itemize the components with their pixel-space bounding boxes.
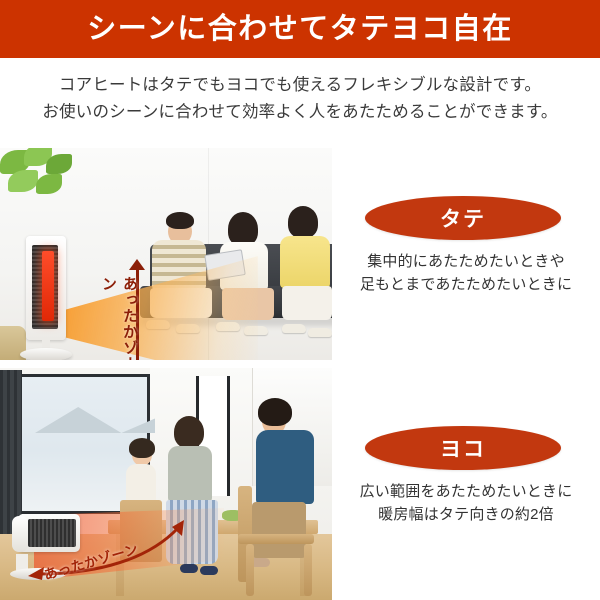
caption-horizontal-line-2: 暖房幅はタテ向きの約2倍 (332, 503, 600, 526)
intro-line-2: お使いのシーンに合わせて効率よく人をあたためることができます。 (0, 99, 600, 126)
heater-base (20, 348, 72, 360)
curtain (0, 370, 22, 538)
photo-vertical-usage: あったかゾーン (0, 148, 332, 360)
heat-zone-label-vertical: あったかゾーン (98, 276, 140, 360)
heater-unit-vertical (18, 236, 74, 360)
section-horizontal-info: ヨコ 広い範囲をあたためたいときに 暖房幅はタテ向きの約2倍 (332, 368, 600, 600)
caption-vertical: 集中的にあたためたいときや 足もとまであたためたいときに (332, 250, 600, 297)
roofline-outside (35, 407, 155, 433)
intro-line-1: コアヒートはタテでもヨコでも使えるフレキシブルな設計です。 (0, 72, 600, 99)
heating-element-glow (42, 251, 54, 321)
living-room-scene: あったかゾーン (0, 148, 332, 360)
badge-vertical-label: タテ (440, 203, 486, 233)
caption-vertical-line-1: 集中的にあたためたいときや (332, 250, 600, 273)
chair-leg (304, 544, 312, 596)
product-feature-page: シーンに合わせてタテヨコ自在 コアヒートはタテでもヨコでも使えるフレキシブルな設… (0, 0, 600, 600)
header-banner: シーンに合わせてタテヨコ自在 (0, 0, 600, 58)
badge-vertical: タテ (365, 196, 561, 240)
page-title: シーンに合わせてタテヨコ自在 (87, 15, 513, 44)
dining-room-scene: あったかゾーン (0, 368, 332, 600)
badge-horizontal-label: ヨコ (440, 433, 486, 463)
heat-zone-arrow-vertical: あったかゾーン (96, 266, 158, 360)
caption-horizontal-line-1: 広い範囲をあたためたいときに (332, 480, 600, 503)
caption-horizontal: 広い範囲をあたためたいときに 暖房幅はタテ向きの約2倍 (332, 480, 600, 527)
badge-horizontal: ヨコ (365, 426, 561, 470)
shoe (200, 566, 218, 575)
caption-vertical-line-2: 足もとまであたためたいときに (332, 273, 600, 296)
photo-horizontal-usage: あったかゾーン (0, 368, 332, 600)
plant-decoration (0, 148, 86, 214)
arrow-head-up-icon (129, 259, 145, 270)
father-trousers (252, 502, 306, 558)
intro-paragraph: コアヒートはタテでもヨコでも使えるフレキシブルな設計です。 お使いのシーンに合わ… (0, 72, 600, 125)
chair-father-seat (238, 534, 314, 544)
chair-leg (246, 544, 254, 596)
section-vertical-info: タテ 集中的にあたためたいときや 足もとまであたためたいときに (332, 148, 600, 360)
